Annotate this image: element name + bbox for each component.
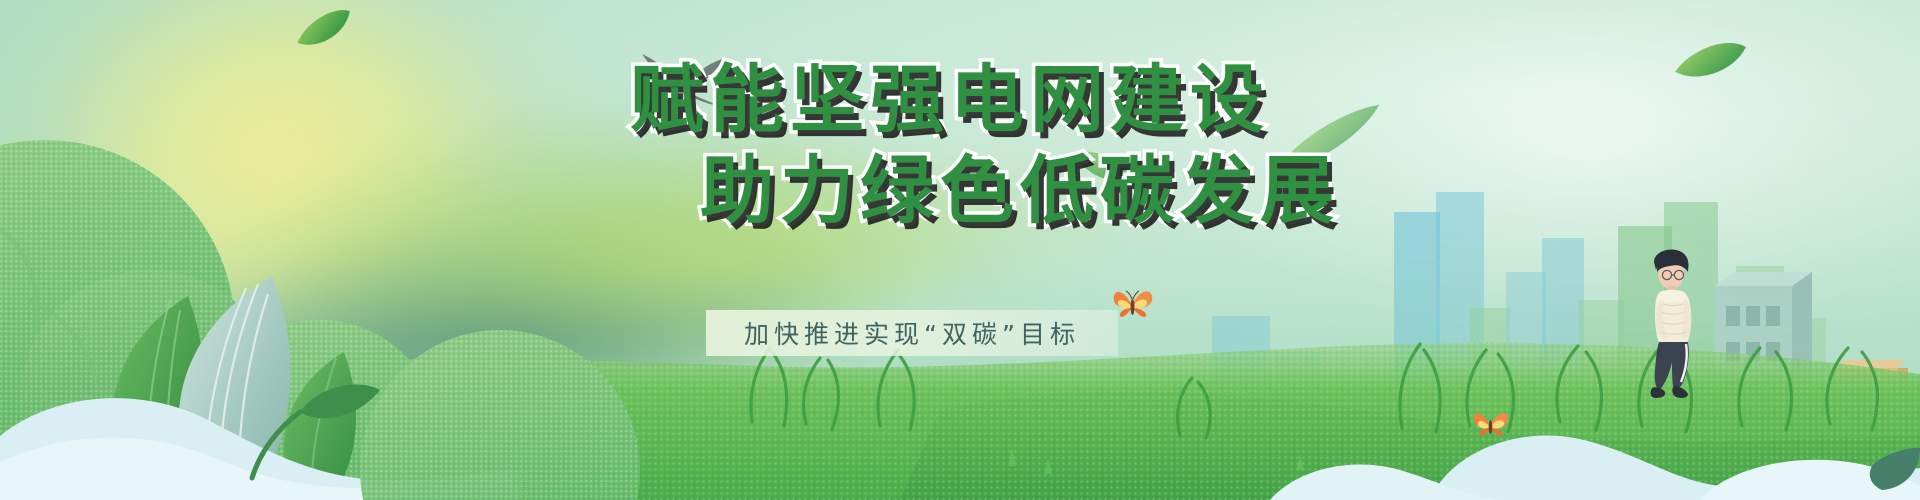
leaf-mid-right (1070, 139, 1136, 194)
green-energy-banner: 赋能坚强电网建设 助力绿色低碳发展 加快推进实现“双碳”目标 (0, 0, 1920, 500)
walking-person (1636, 248, 1712, 400)
leaf-top-left (292, 6, 357, 50)
left-foliage-group (0, 0, 1920, 500)
butterfly-icon-center (1112, 286, 1154, 324)
leaf-top-right (1672, 40, 1750, 81)
subtitle-text: 加快推进实现“双碳”目标 (706, 310, 1118, 356)
leaf-blade-right (1267, 102, 1389, 175)
butterfly-icon-right (1472, 408, 1510, 442)
swallow-icon (636, 54, 732, 116)
